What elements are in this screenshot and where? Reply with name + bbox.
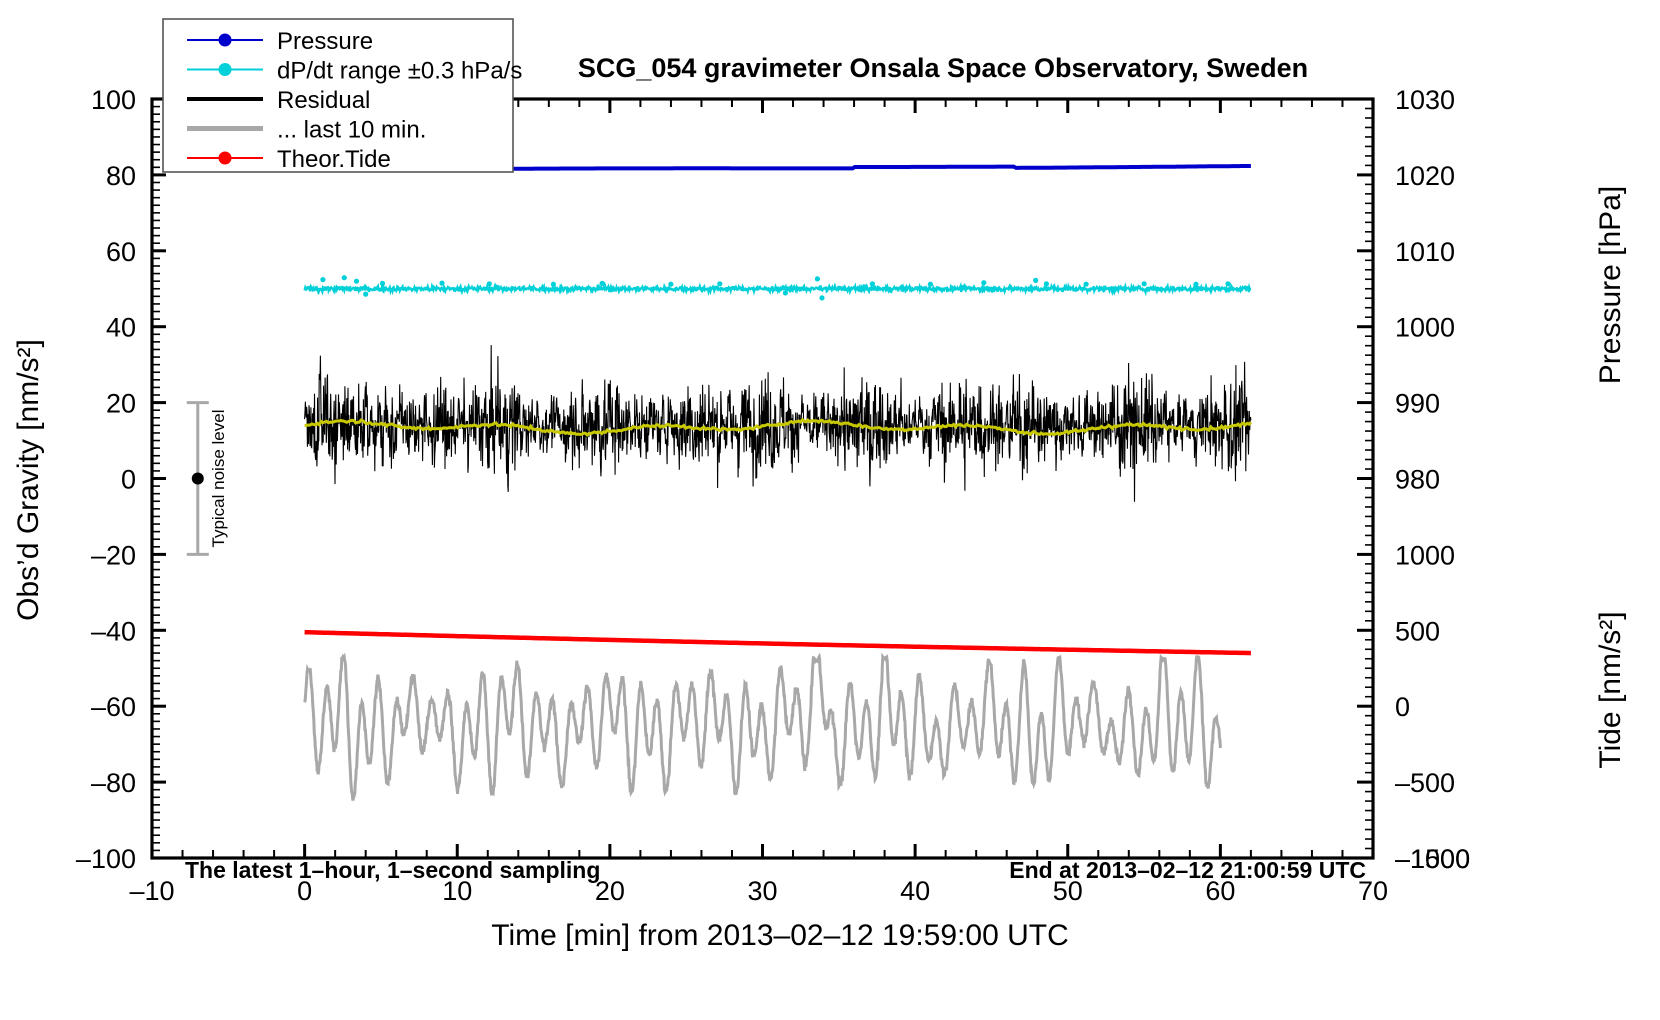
dpdt-outlier-point — [320, 277, 325, 282]
gravimeter-plot-page: SCG_054 gravimeter Onsala Space Observat… — [0, 0, 1660, 1020]
dpdt-outlier-point — [668, 282, 673, 287]
y-tick-label-right-pressure: 990 — [1395, 389, 1440, 419]
dpdt-outlier-point — [1225, 281, 1230, 286]
legend-item-label[interactable]: Theor.Tide — [277, 146, 391, 173]
y-tick-label-right-pressure: 1000 — [1395, 313, 1455, 343]
dpdt-outlier-point — [870, 281, 875, 286]
dpdt-outlier-point — [1033, 278, 1038, 283]
y-tick-label-left: –40 — [91, 616, 136, 646]
legend[interactable]: PressuredP/dt range ±0.3 hPa/sResidual..… — [163, 19, 522, 173]
x-tick-label: –10 — [129, 876, 174, 906]
y-tick-label-left: –20 — [91, 540, 136, 570]
dpdt-outlier-point — [380, 281, 385, 286]
legend-item-label[interactable]: dP/dt range ±0.3 hPa/s — [277, 58, 522, 85]
y-tick-label-right-tide: –1500 — [1395, 844, 1470, 874]
dpdt-outlier-point — [1142, 281, 1147, 286]
y-tick-label-right-pressure: 980 — [1395, 465, 1440, 495]
dpdt-outlier-point — [928, 282, 933, 287]
noise-center-point — [192, 473, 204, 485]
y-tick-label-left: 100 — [91, 85, 136, 115]
dpdt-outlier-point — [1193, 282, 1198, 287]
x-tick-label: 30 — [747, 876, 777, 906]
dpdt-outlier-point — [1044, 281, 1049, 286]
y-tick-label-right-tide: –500 — [1395, 768, 1455, 798]
noise-level-label: Typical noise level — [209, 410, 228, 548]
y-tick-label-left: –100 — [76, 844, 136, 874]
dpdt-outlier-point — [1084, 282, 1089, 287]
dpdt-outlier-point — [815, 276, 820, 281]
dpdt-outlier-point — [981, 280, 986, 285]
legend-item-label[interactable]: Pressure — [277, 28, 373, 55]
dpdt-outlier-point — [717, 281, 722, 286]
y-tick-label-left: –60 — [91, 692, 136, 722]
y-axis-label-right-pressure: Pressure [hPa] — [1594, 186, 1627, 384]
legend-swatch-marker — [219, 63, 232, 76]
y-tick-label-right-tide: 0 — [1395, 692, 1410, 722]
y-tick-label-left: 0 — [121, 465, 136, 495]
dpdt-outlier-point — [342, 275, 347, 280]
legend-item-label[interactable]: Residual — [277, 87, 370, 114]
dpdt-outlier-point — [487, 281, 492, 286]
footer-left-text: The latest 1–hour, 1–second sampling — [185, 857, 600, 883]
y-tick-label-left: 20 — [106, 389, 136, 419]
chart-title: SCG_054 gravimeter Onsala Space Observat… — [578, 53, 1308, 83]
footer-right-text: End at 2013–02–12 21:00:59 UTC — [1009, 857, 1366, 883]
y-axis-label-right-tide: Tide [nm/s²] — [1594, 611, 1627, 768]
y-tick-label-left: 80 — [106, 161, 136, 191]
y-tick-label-right-tide: 1000 — [1395, 540, 1455, 570]
legend-swatch-marker — [219, 34, 232, 47]
x-tick-label: 40 — [900, 876, 930, 906]
y-tick-label-right-tide: 500 — [1395, 616, 1440, 646]
dpdt-outlier-point — [551, 282, 556, 287]
y-tick-label-left: –80 — [91, 768, 136, 798]
y-tick-label-right-pressure: 1020 — [1395, 161, 1455, 191]
chart-canvas: SCG_054 gravimeter Onsala Space Observat… — [0, 0, 1660, 1020]
dpdt-outlier-point — [439, 281, 444, 286]
y-tick-label-right-pressure: 1010 — [1395, 237, 1455, 267]
y-axis-label-left: Obs’d Gravity [nm/s²] — [12, 339, 45, 621]
legend-item-label[interactable]: ... last 10 min. — [277, 117, 426, 144]
y-tick-label-right-pressure: 1030 — [1395, 85, 1455, 115]
legend-swatch-marker — [219, 152, 232, 165]
dpdt-outlier-point — [600, 281, 605, 286]
x-axis-label: Time [min] from 2013–02–12 19:59:00 UTC — [491, 919, 1069, 952]
y-tick-label-left: 40 — [106, 313, 136, 343]
dpdt-outlier-point — [363, 292, 368, 297]
y-tick-label-left: 60 — [106, 237, 136, 267]
dpdt-outlier-point — [354, 279, 359, 284]
dpdt-outlier-point — [783, 290, 788, 295]
dpdt-outlier-point — [819, 295, 824, 300]
